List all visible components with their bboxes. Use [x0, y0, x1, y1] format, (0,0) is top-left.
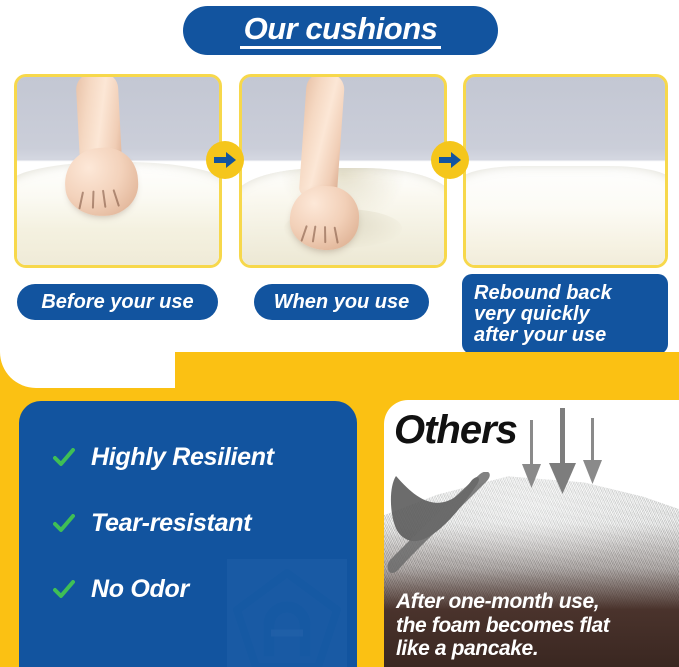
feature-label: No Odor — [91, 575, 189, 604]
demo-photo-during — [239, 74, 447, 268]
yellow-band-corner-notch — [0, 352, 175, 388]
knuckle-lines — [76, 189, 129, 210]
others-caption-line-1: After one-month use, — [396, 590, 609, 614]
others-comparison-panel: Others — [384, 400, 679, 667]
others-caption-line-2: the foam becomes flat — [396, 614, 609, 638]
page-title-pill: Our cushions — [183, 6, 498, 55]
page-title: Our cushions — [240, 13, 442, 49]
features-panel: Highly Resilient Tear-resistant No Odor — [19, 401, 357, 667]
caption-line-3: after your use — [474, 325, 606, 346]
feature-item: Highly Resilient — [53, 443, 274, 472]
photo-scene-backdrop — [17, 77, 219, 265]
caption-line-2: very quickly — [474, 304, 590, 325]
check-icon — [53, 580, 75, 600]
caption-when-you-use: When you use — [254, 284, 429, 320]
pentagon-logo-watermark — [223, 555, 351, 667]
photo-scene-backdrop — [466, 77, 665, 265]
x-cross-mark-icon — [386, 472, 506, 578]
others-caption: After one-month use, the foam becomes fl… — [396, 590, 609, 661]
arrow-right-icon — [206, 141, 244, 179]
demo-photo-strip — [0, 74, 679, 268]
check-icon — [53, 448, 75, 468]
arrow-right-icon — [431, 141, 469, 179]
demo-photo-before — [14, 74, 222, 268]
others-title: Others — [394, 408, 517, 453]
feature-item: Tear-resistant — [53, 509, 274, 538]
caption-line-1: Rebound back — [474, 283, 612, 304]
demo-photo-after — [463, 74, 668, 268]
knuckle-lines — [299, 224, 349, 243]
feature-label: Highly Resilient — [91, 443, 274, 472]
check-icon — [53, 514, 75, 534]
arrow-down-icon-group — [518, 406, 610, 498]
caption-rebound-back: Rebound back very quickly after your use — [462, 274, 668, 354]
photo-scene-backdrop — [242, 77, 444, 265]
caption-before-your-use: Before your use — [17, 284, 218, 320]
others-caption-line-3: like a pancake. — [396, 637, 609, 661]
foam-cushion-shape — [463, 166, 668, 268]
feature-label: Tear-resistant — [91, 509, 251, 538]
infographic-page: Our cushions — [0, 0, 679, 667]
